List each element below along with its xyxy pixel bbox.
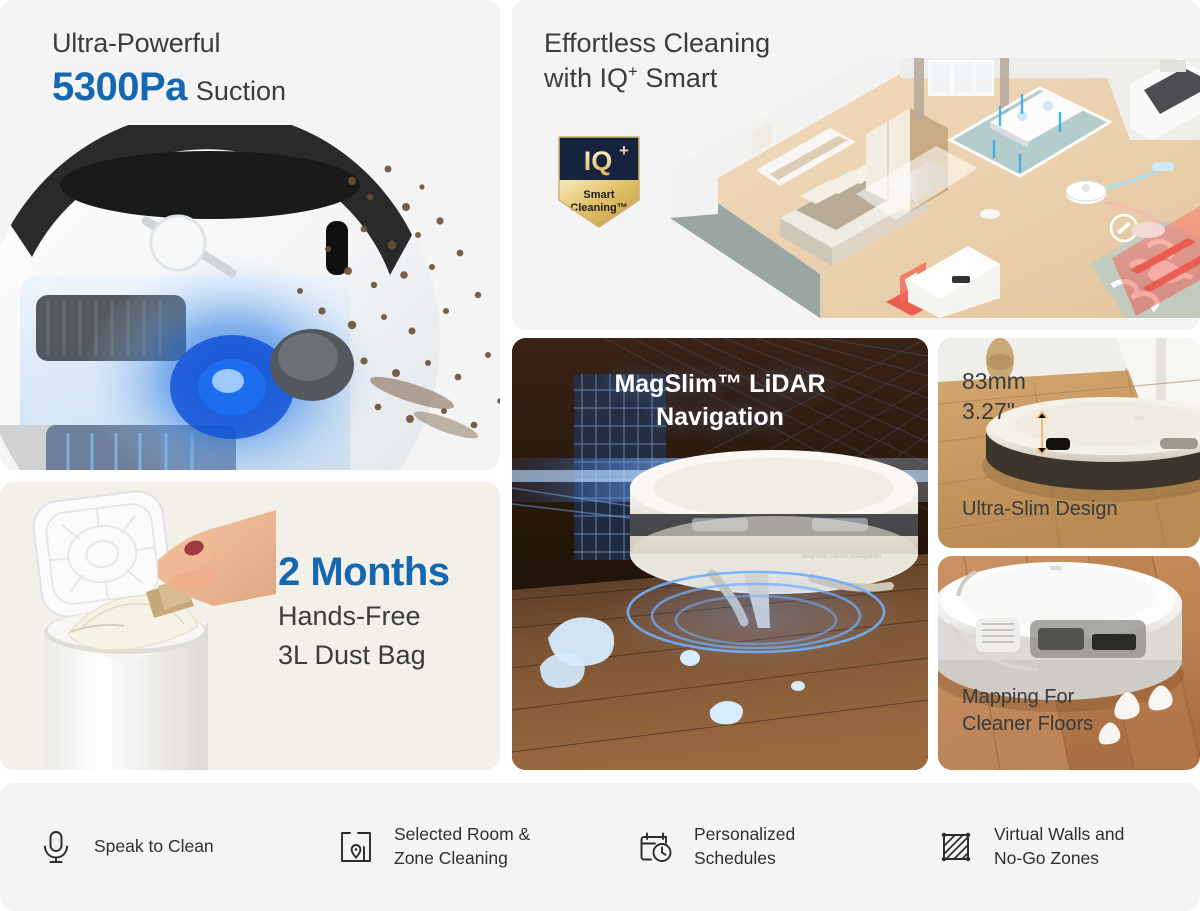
feature-label-line1: Virtual Walls and — [994, 824, 1124, 844]
room-zone-map-icon — [336, 827, 376, 867]
lidar-title-line2: Navigation — [512, 401, 928, 434]
suction-text-block: Ultra-Powerful 5300Pa Suction — [52, 28, 286, 110]
svg-text:+: + — [619, 141, 629, 160]
feature-label-line1: Speak to Clean — [94, 836, 214, 856]
suction-unit: Suction — [196, 76, 286, 107]
lidar-device-label: MagSlim LiDAR Navigation — [802, 554, 882, 560]
iq-title-line1: Effortless Cleaning — [544, 26, 770, 61]
feature-virtual-walls-no-go[interactable]: Virtual Walls and No-Go Zones — [900, 823, 1200, 870]
feature-label: Selected Room & Zone Cleaning — [394, 823, 530, 870]
panel-dust-bag: 2 Months Hands-Free 3L Dust Bag — [0, 482, 500, 770]
panel-lidar-navigation: MagSlim LiDAR Navigation MagSlim™ LiDAR … — [512, 338, 928, 770]
dustbag-sub-line2: 3L Dust Bag — [278, 638, 450, 673]
svg-text:odo: odo — [1050, 565, 1062, 572]
iq-title-line2: with IQ+ Smart — [544, 61, 770, 96]
dustbag-text-block: 2 Months Hands-Free 3L Dust Bag — [278, 550, 450, 673]
feature-selected-room-zone[interactable]: Selected Room & Zone Cleaning — [300, 823, 600, 870]
panel-mapping: odo Mapping For Cleaner Floors — [938, 556, 1200, 770]
feature-label-line2: No-Go Zones — [994, 848, 1099, 868]
feature-label-line1: Selected Room & — [394, 824, 530, 844]
feature-label-line1: Personalized — [694, 824, 795, 844]
feature-label-line2: Schedules — [694, 848, 776, 868]
microphone-icon — [36, 827, 76, 867]
iq-title-prefix: with IQ — [544, 63, 628, 93]
vacuum-underside-image — [0, 125, 500, 470]
no-go-zone-icon — [936, 827, 976, 867]
mapping-caption-line2: Cleaner Floors — [962, 711, 1093, 738]
feature-label: Personalized Schedules — [694, 823, 795, 870]
lidar-title: MagSlim™ LiDAR Navigation — [512, 368, 928, 433]
mapping-caption-line1: Mapping For — [962, 684, 1093, 711]
feature-label-line2: Zone Cleaning — [394, 848, 508, 868]
iq-title-block: Effortless Cleaning with IQ+ Smart — [544, 26, 770, 95]
suction-value: 5300Pa — [52, 65, 187, 110]
suction-heading: Ultra-Powerful — [52, 28, 286, 59]
slim-metric-in: 3.27" — [962, 396, 1026, 426]
iq-title-superscript: + — [628, 62, 638, 81]
slim-caption: Ultra-Slim Design — [962, 498, 1118, 521]
slim-metric: 83mm 3.27" — [962, 366, 1026, 427]
svg-text:Cleaning™: Cleaning™ — [570, 202, 627, 214]
svg-text:IQ: IQ — [584, 146, 613, 176]
panel-iq-smart: Effortless Cleaning with IQ+ Smart — [512, 0, 1200, 330]
panel-suction: Ultra-Powerful 5300Pa Suction — [0, 0, 500, 470]
dustbag-headline: 2 Months — [278, 550, 450, 595]
svg-text:Smart: Smart — [583, 189, 615, 201]
mapping-caption: Mapping For Cleaner Floors — [962, 684, 1093, 738]
iq-smart-cleaning-badge: IQ + Smart Cleaning™ — [554, 134, 644, 230]
calendar-clock-icon — [636, 827, 676, 867]
dust-bag-replacement-image — [8, 482, 276, 770]
svg-text:odo: odo — [1134, 416, 1145, 422]
product-feature-infographic: Ultra-Powerful 5300Pa Suction — [0, 0, 1200, 911]
feature-label: Virtual Walls and No-Go Zones — [994, 823, 1124, 870]
slim-metric-mm: 83mm — [962, 366, 1026, 396]
mapping-floor-image: odo — [938, 556, 1200, 770]
feature-speak-to-clean[interactable]: Speak to Clean — [0, 827, 300, 867]
feature-personalized-schedules[interactable]: Personalized Schedules — [600, 823, 900, 870]
dustbag-sub-line1: Hands-Free — [278, 599, 450, 634]
iq-title-suffix: Smart — [638, 63, 718, 93]
lidar-title-line1: MagSlim™ LiDAR — [512, 368, 928, 401]
feature-bar: Speak to Clean Selected Room & Zone Clea… — [0, 783, 1200, 911]
panel-ultra-slim: odo 83mm 3.27" Ultra-Slim Design — [938, 338, 1200, 548]
feature-label: Speak to Clean — [94, 835, 214, 859]
